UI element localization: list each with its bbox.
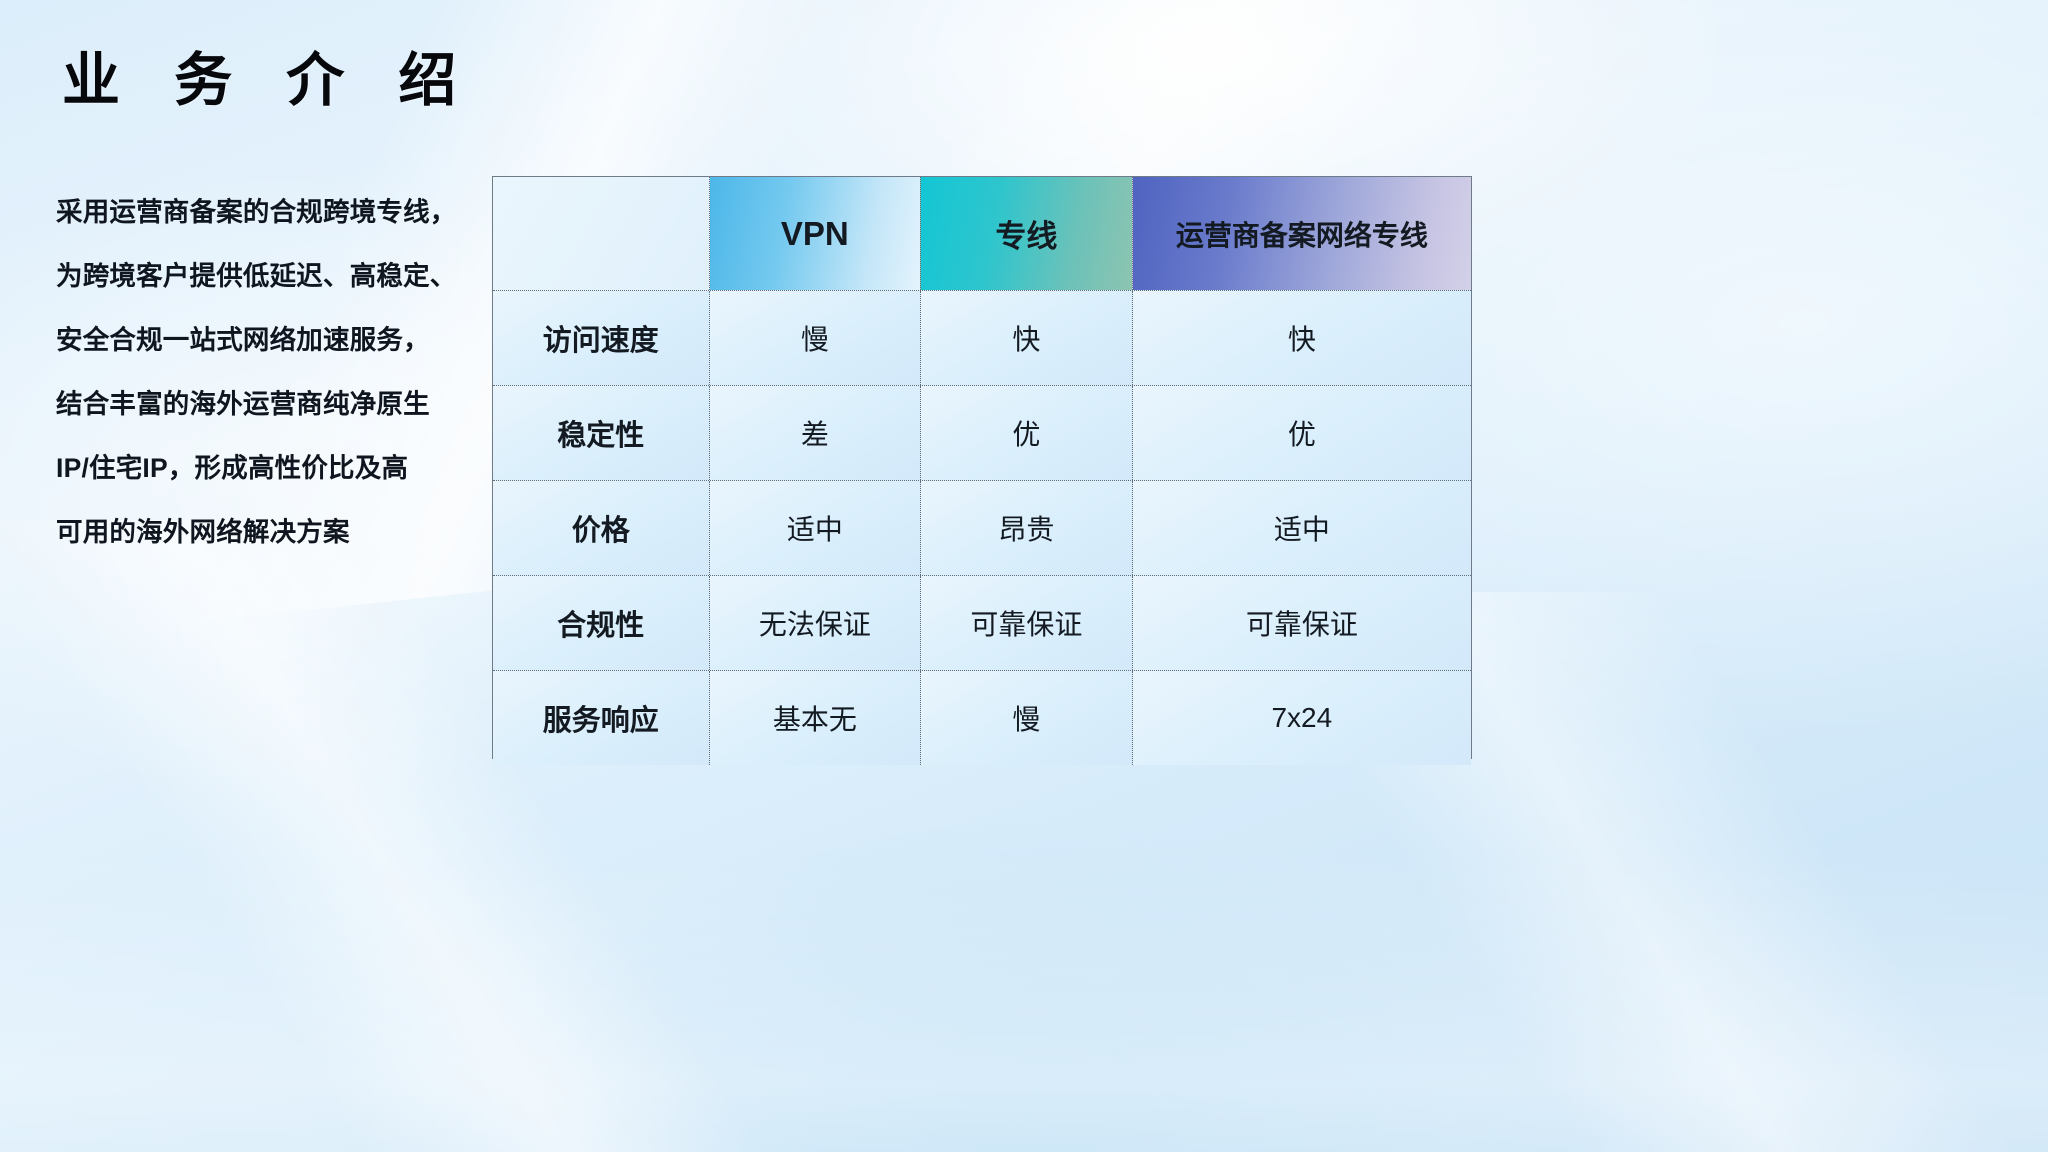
table-header-cell-carrier-line: 运营商备案网络专线 <box>1132 177 1471 290</box>
cell-value: 快 <box>1132 291 1471 385</box>
table-row: 价格 适中 昂贵 适中 <box>493 480 1471 575</box>
cell-value: 快 <box>920 291 1132 385</box>
row-label: 合规性 <box>493 576 709 670</box>
table-header-cell-dedicated-line: 专线 <box>920 177 1132 290</box>
cell-value: 差 <box>709 386 921 480</box>
row-label: 访问速度 <box>493 291 709 385</box>
light-streak-decoration <box>0 852 2048 1152</box>
table-row: 稳定性 差 优 优 <box>493 385 1471 480</box>
intro-paragraph: 采用运营商备案的合规跨境专线， 为跨境客户提供低延迟、高稳定、 安全合规一站式网… <box>56 180 486 564</box>
cell-value: 可靠保证 <box>920 576 1132 670</box>
cell-value: 慢 <box>709 291 921 385</box>
cell-value: 优 <box>920 386 1132 480</box>
cell-value: 无法保证 <box>709 576 921 670</box>
paragraph-line: 结合丰富的海外运营商纯净原生 <box>56 372 486 436</box>
paragraph-line: IP/住宅IP，形成高性价比及高 <box>56 436 486 500</box>
table-row: 访问速度 慢 快 快 <box>493 290 1471 385</box>
slide-canvas: 业 务 介 绍 采用运营商备案的合规跨境专线， 为跨境客户提供低延迟、高稳定、 … <box>0 0 2048 1152</box>
row-label: 稳定性 <box>493 386 709 480</box>
cell-value: 慢 <box>920 671 1132 765</box>
paragraph-line: 安全合规一站式网络加速服务， <box>56 308 486 372</box>
table-header-row: VPN 专线 运营商备案网络专线 <box>493 177 1471 290</box>
paragraph-line: 可用的海外网络解决方案 <box>56 500 486 564</box>
row-label: 服务响应 <box>493 671 709 765</box>
table-row: 服务响应 基本无 慢 7x24 <box>493 670 1471 765</box>
paragraph-line: 为跨境客户提供低延迟、高稳定、 <box>56 244 486 308</box>
cell-value: 优 <box>1132 386 1471 480</box>
cell-value: 昂贵 <box>920 481 1132 575</box>
table-header-cell-vpn: VPN <box>709 177 921 290</box>
cell-value: 适中 <box>1132 481 1471 575</box>
table-header-cell-blank <box>493 177 709 290</box>
page-title: 业 务 介 绍 <box>62 52 475 110</box>
cell-value: 适中 <box>709 481 921 575</box>
cell-value: 可靠保证 <box>1132 576 1471 670</box>
cell-value: 7x24 <box>1132 671 1471 765</box>
table-row: 合规性 无法保证 可靠保证 可靠保证 <box>493 575 1471 670</box>
row-label: 价格 <box>493 481 709 575</box>
cell-value: 基本无 <box>709 671 921 765</box>
paragraph-line: 采用运营商备案的合规跨境专线， <box>56 180 486 244</box>
comparison-table: VPN 专线 运营商备案网络专线 访问速度 慢 快 快 稳定性 差 优 优 价格… <box>492 176 1472 759</box>
